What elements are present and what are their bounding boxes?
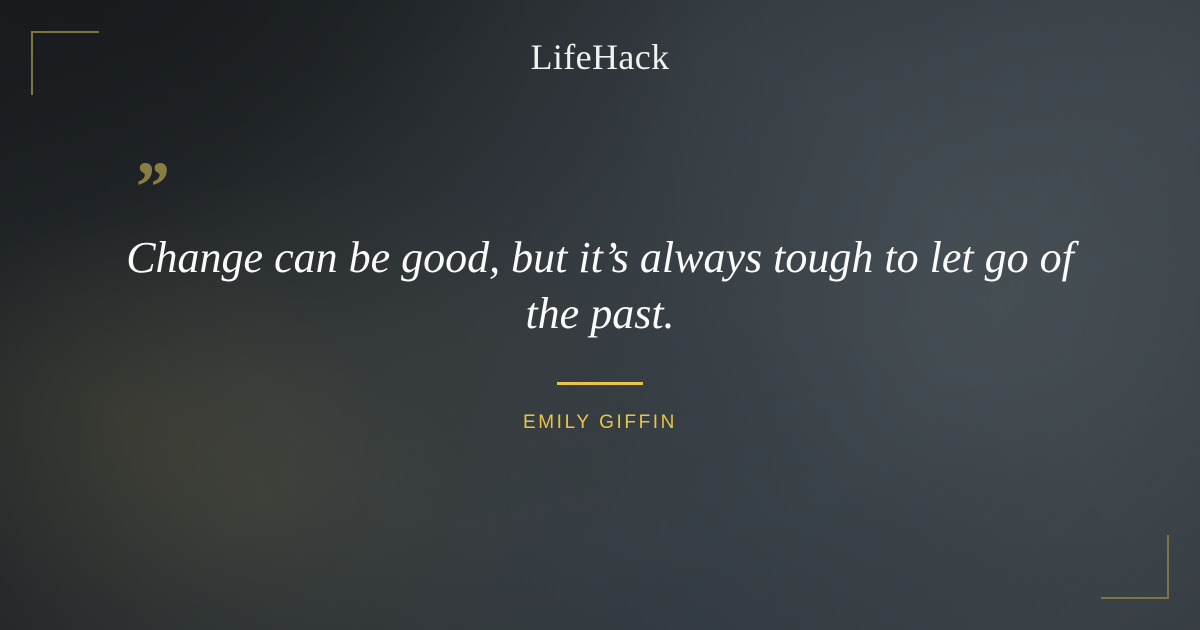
divider-rule	[557, 382, 643, 385]
quote-text: Change can be good, but it’s always toug…	[100, 230, 1100, 343]
corner-bracket-bottom-right-icon	[1101, 535, 1169, 599]
quotation-mark-icon: ”	[132, 160, 1100, 212]
quote-block: ” Change can be good, but it’s always to…	[100, 160, 1100, 343]
quote-card: LifeHack ” Change can be good, but it’s …	[0, 0, 1200, 630]
quote-author: EMILY GIFFIN	[0, 412, 1200, 434]
brand-logo: LifeHack	[0, 38, 1200, 78]
